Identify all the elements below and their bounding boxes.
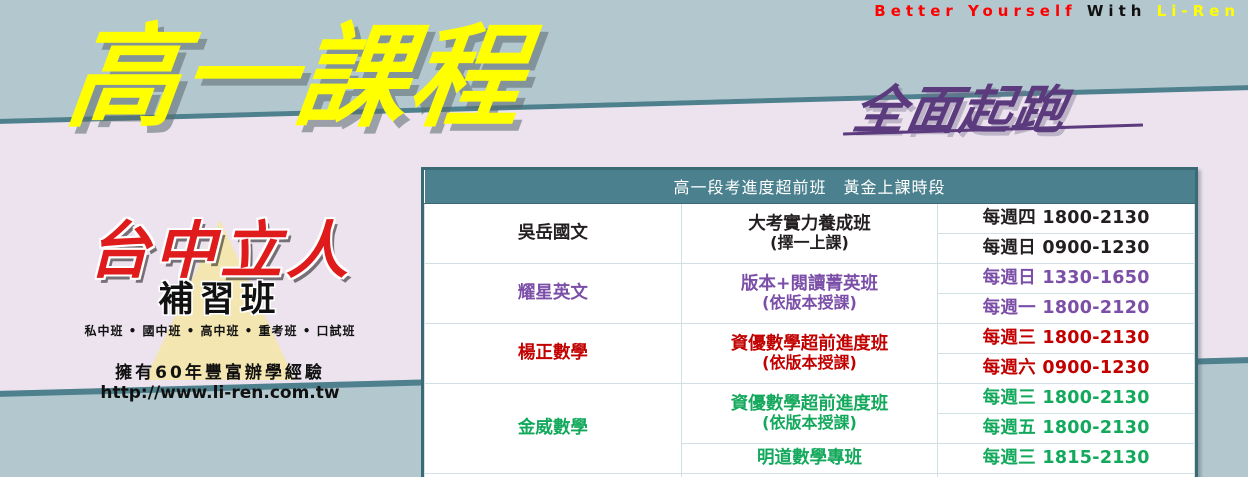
logo-name: 台中立人 [45, 218, 395, 285]
course-name: 明道數學專班 [757, 448, 862, 468]
teacher-cell: 陳碩物理 [425, 474, 682, 477]
time-cell: 每週二 1800-2120 [938, 474, 1195, 477]
course-name: 版本+閱讀菁英班 [741, 274, 878, 294]
course-note: (依版本授課) [684, 294, 936, 312]
table-row: 耀星英文版本+閱讀菁英班(依版本授課)每週日 1330-1650 [425, 264, 1195, 294]
course-name: 資優數學超前進度班 [731, 394, 889, 414]
course-cell: 資優數學超前進度班(依版本授課) [681, 384, 938, 444]
poster-canvas: Better Yourself With Li-Ren 高一課程 全面起跑 台中… [0, 0, 1248, 477]
time-cell: 每週日 1330-1650 [938, 264, 1195, 294]
table-row: 吳岳國文大考實力養成班(擇一上課)每週四 1800-2130 [425, 204, 1195, 234]
logo-class-list: 私中班 • 國中班 • 高中班 • 重考班 • 口試班 [45, 322, 395, 339]
time-cell: 每週一 1800-2120 [938, 294, 1195, 324]
teacher-cell: 楊正數學 [425, 324, 682, 384]
page-title: 高一課程 [60, 10, 533, 147]
table-row: 楊正數學資優數學超前進度班(依版本授課)每週三 1800-2130 [425, 324, 1195, 354]
tagline-part-3: Li-Ren [1157, 2, 1240, 20]
course-note: (擇一上課) [684, 234, 936, 252]
time-cell: 每週六 0900-1230 [938, 354, 1195, 384]
course-cell: 大考實力養成班(擇一上課) [681, 204, 938, 264]
table-title: 高一段考進度超前班 黃金上課時段 [425, 170, 1195, 204]
teacher-cell: 金威數學 [425, 384, 682, 474]
course-cell: 版本+閱讀菁英班(依版本授課) [681, 264, 938, 324]
logo-website-link[interactable]: http://www.li-ren.com.tw [45, 383, 395, 403]
time-cell: 每週日 0900-1230 [938, 234, 1195, 264]
teacher-cell: 耀星英文 [425, 264, 682, 324]
time-cell: 每週五 1800-2130 [938, 414, 1195, 444]
time-cell: 每週三 1800-2130 [938, 324, 1195, 354]
course-note: (依版本授課) [684, 354, 936, 372]
course-name: 大考實力養成班 [748, 214, 871, 234]
tagline-part-2: With [1087, 2, 1147, 20]
tagline: Better Yourself With Li-Ren [0, 2, 1240, 20]
tagline-part-1: Better Yourself [874, 2, 1076, 20]
logo: 台中立人 補習班 私中班 • 國中班 • 高中班 • 重考班 • 口試班 擁有6… [45, 218, 395, 403]
table-row: 陳碩物理必修物理資優班每週二 1800-2120 [425, 474, 1195, 477]
course-cell: 必修物理資優班 [681, 474, 938, 477]
teacher-cell: 吳岳國文 [425, 204, 682, 264]
table-row: 金威數學資優數學超前進度班(依版本授課)每週三 1800-2130 [425, 384, 1195, 414]
schedule-table: 高一段考進度超前班 黃金上課時段 吳岳國文大考實力養成班(擇一上課)每週四 18… [424, 170, 1195, 477]
table-header-row: 高一段考進度超前班 黃金上課時段 [425, 170, 1195, 204]
course-cell: 資優數學超前進度班(依版本授課) [681, 324, 938, 384]
time-cell: 每週三 1815-2130 [938, 444, 1195, 474]
course-cell: 明道數學專班 [681, 444, 938, 474]
time-cell: 每週四 1800-2130 [938, 204, 1195, 234]
time-cell: 每週三 1800-2130 [938, 384, 1195, 414]
course-note: (依版本授課) [684, 414, 936, 432]
schedule-table-container: 高一段考進度超前班 黃金上課時段 吳岳國文大考實力養成班(擇一上課)每週四 18… [421, 167, 1198, 477]
course-name: 資優數學超前進度班 [731, 334, 889, 354]
logo-experience: 擁有60年豐富辦學經驗 [45, 358, 395, 383]
